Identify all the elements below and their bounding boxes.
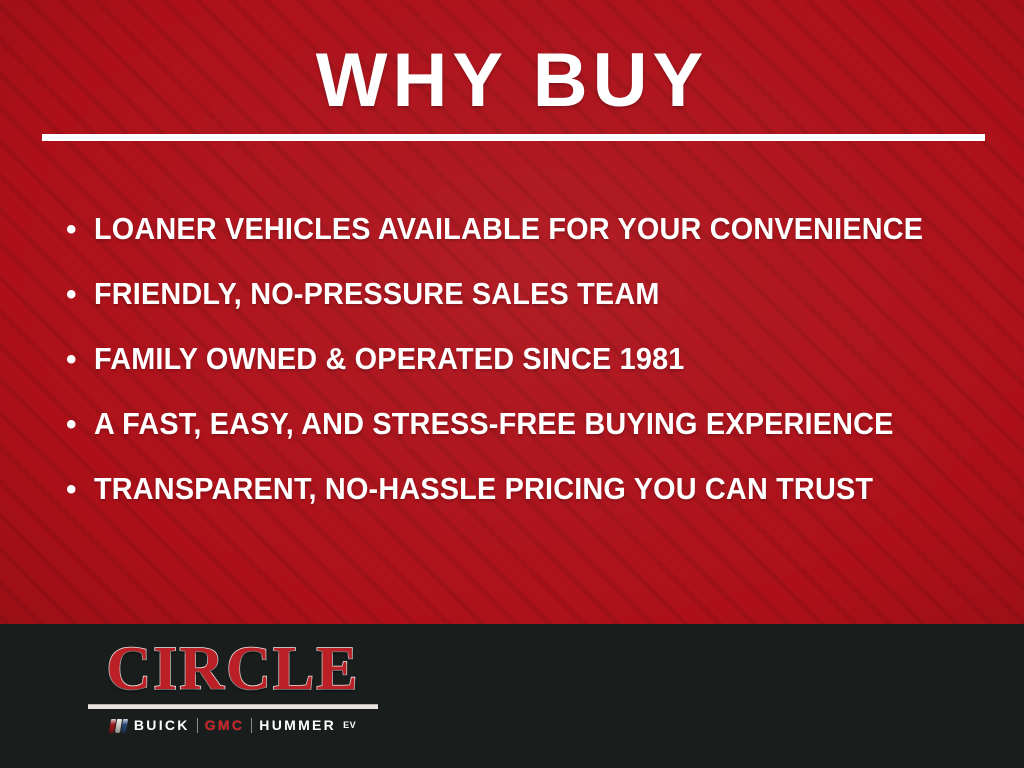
- brand-lockup-row: BUICK GMC HUMMEREV: [88, 716, 378, 734]
- slide-canvas: WHY BUY • LOANER VEHICLES AVAILABLE FOR …: [0, 0, 1024, 768]
- list-item: • FRIENDLY, NO-PRESSURE SALES TEAM: [66, 277, 996, 342]
- bullet-dot-icon: •: [66, 215, 94, 245]
- list-item: • FAMILY OWNED & OPERATED SINCE 1981: [66, 342, 996, 407]
- benefit-text: TRANSPARENT, NO-HASSLE PRICING YOU CAN T…: [94, 472, 933, 506]
- brand-gmc-label: GMC: [205, 718, 245, 733]
- dealer-wordmark: CIRCLE: [88, 638, 378, 700]
- list-item: • A FAST, EASY, AND STRESS-FREE BUYING E…: [66, 407, 996, 472]
- list-item: • TRANSPARENT, NO-HASSLE PRICING YOU CAN…: [66, 472, 996, 537]
- benefit-text: FRIENDLY, NO-PRESSURE SALES TEAM: [94, 277, 933, 311]
- bullet-dot-icon: •: [66, 280, 94, 310]
- brand-hummer-ev-suffix: EV: [343, 718, 356, 733]
- benefits-list: • LOANER VEHICLES AVAILABLE FOR YOUR CON…: [66, 212, 996, 537]
- brand-buick-label: BUICK: [134, 718, 190, 733]
- title-divider-rule: [42, 134, 985, 141]
- brand-separator-icon: [197, 718, 198, 733]
- bullet-dot-icon: •: [66, 410, 94, 440]
- benefit-text: FAMILY OWNED & OPERATED SINCE 1981: [94, 342, 933, 376]
- page-title: WHY BUY: [0, 42, 1024, 120]
- buick-trishield-icon: [110, 718, 127, 733]
- brand-hummer-label: HUMMER: [259, 718, 336, 733]
- footer-bar: CIRCLE BUICK GMC HUMMEREV YOUR HOME FOR …: [0, 624, 1024, 768]
- bullet-dot-icon: •: [66, 475, 94, 505]
- benefit-text: LOANER VEHICLES AVAILABLE FOR YOUR CONVE…: [94, 212, 933, 246]
- dealer-logo: CIRCLE BUICK GMC HUMMEREV: [88, 638, 378, 734]
- benefit-text: A FAST, EASY, AND STRESS-FREE BUYING EXP…: [94, 407, 933, 441]
- logo-underline-rule: [88, 704, 378, 709]
- list-item: • LOANER VEHICLES AVAILABLE FOR YOUR CON…: [66, 212, 996, 277]
- brand-separator-icon: [251, 718, 252, 733]
- bullet-dot-icon: •: [66, 345, 94, 375]
